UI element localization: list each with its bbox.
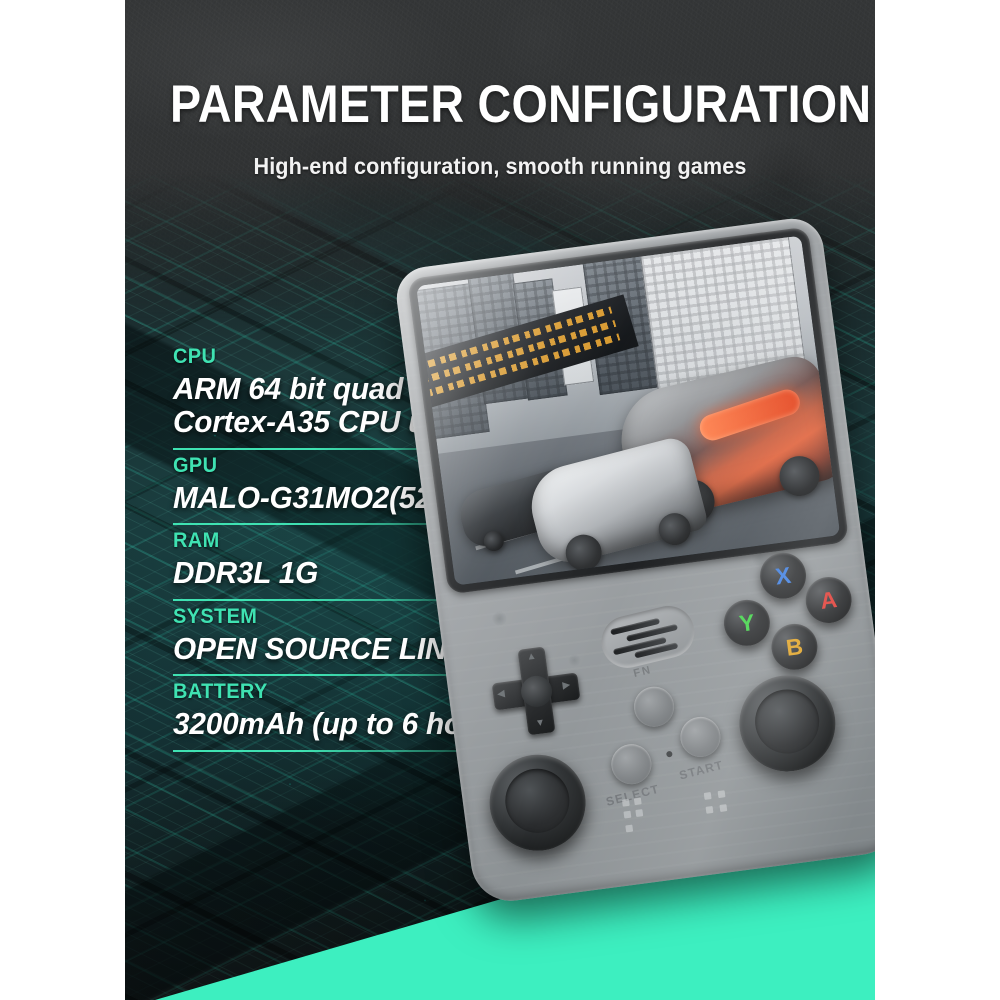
handheld-console-image: ▲ ▼ ◀ ▶ FN X A Y B [393, 210, 875, 926]
product-spec-banner: PARAMETER CONFIGURATION High-end configu… [0, 0, 1000, 1000]
header: PARAMETER CONFIGURATION High-end configu… [125, 0, 875, 180]
page-title: PARAMETER CONFIGURATION [170, 78, 830, 131]
console-gloss [393, 215, 875, 906]
console-shell: ▲ ▼ ◀ ▶ FN X A Y B [393, 215, 875, 906]
page-subtitle: High-end configuration, smooth running g… [148, 153, 853, 180]
content-panel: PARAMETER CONFIGURATION High-end configu… [125, 0, 875, 1000]
